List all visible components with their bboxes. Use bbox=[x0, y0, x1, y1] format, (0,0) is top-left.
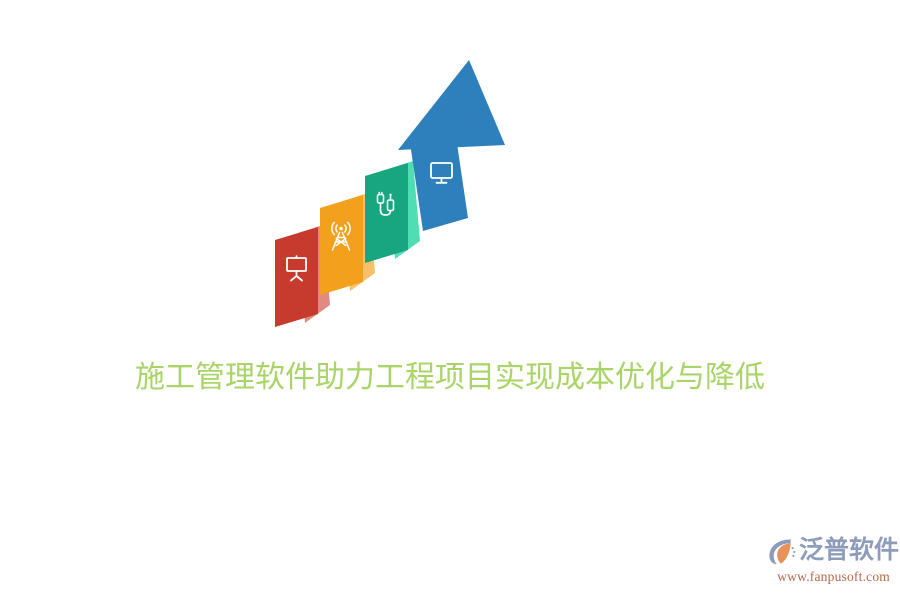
ascending-arrow-illustration bbox=[255, 55, 520, 345]
hero-graphic bbox=[0, 0, 900, 345]
brand-url: www.fanpusoft.com bbox=[766, 569, 890, 585]
brand-logo-row: 泛普软件 bbox=[766, 534, 890, 568]
page-root: 施工管理软件助力工程项目实现成本优化与降低 泛普软件 www.fanpusoft… bbox=[0, 0, 900, 600]
segment-connectivity bbox=[365, 161, 420, 263]
page-title: 施工管理软件助力工程项目实现成本优化与降低 bbox=[0, 356, 900, 400]
brand-name: 泛普软件 bbox=[799, 537, 899, 565]
brand-logo[interactable]: 泛普软件 www.fanpusoft.com bbox=[766, 534, 890, 586]
segment-connectivity-face bbox=[365, 163, 408, 263]
arrow-head bbox=[398, 60, 505, 150]
fanpu-leaf-icon bbox=[766, 536, 797, 567]
segment-broadcast-face bbox=[320, 195, 363, 295]
